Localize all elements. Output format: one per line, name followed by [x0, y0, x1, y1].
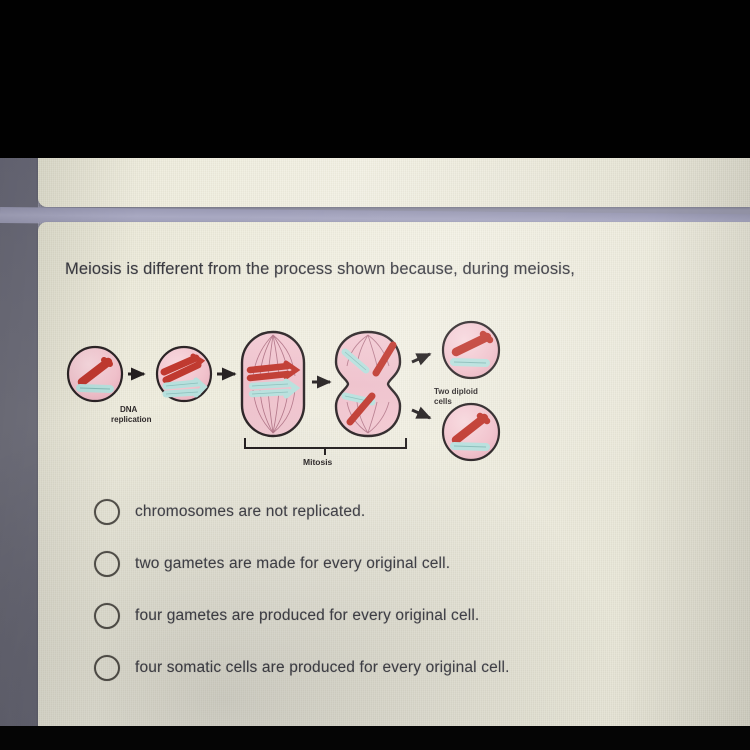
question-card-content: Meiosis is different from the process sh… — [38, 222, 750, 728]
previous-question-card — [38, 158, 750, 207]
device-screen: Meiosis is different from the process sh… — [0, 158, 750, 728]
question-stem: Meiosis is different from the process sh… — [65, 259, 745, 280]
letterbox-bottom — [0, 726, 750, 750]
arrow-4-top — [412, 354, 430, 362]
answer-option-a-label: chromosomes are not replicated. — [135, 503, 365, 521]
radio-button-a[interactable] — [94, 499, 120, 525]
label-mitosis: Mitosis — [303, 457, 333, 467]
stage-metaphase-cell — [242, 332, 304, 436]
answer-option-c[interactable]: four gametes are produced for every orig… — [60, 590, 740, 642]
radio-button-c[interactable] — [94, 603, 120, 629]
answer-option-b[interactable]: two gametes are made for every original … — [60, 538, 740, 590]
stage-parent-cell — [68, 347, 122, 401]
letterbox-top — [0, 0, 750, 160]
screenshot-root: Meiosis is different from the process sh… — [0, 0, 750, 750]
radio-button-d[interactable] — [94, 655, 120, 681]
answer-option-b-label: two gametes are made for every original … — [135, 555, 450, 573]
answer-option-c-label: four gametes are produced for every orig… — [135, 607, 479, 625]
stage-anaphase-cell — [336, 332, 400, 436]
mitosis-bracket — [245, 438, 406, 455]
stage-daughter-cell-bottom — [443, 404, 499, 460]
answer-options-list: chromosomes are not replicated. two game… — [60, 486, 740, 694]
arrow-4-bottom — [412, 410, 430, 418]
label-two-diploid-cells-line2: cells — [434, 397, 452, 406]
label-two-diploid-cells-line1: Two diploid — [434, 387, 478, 396]
answer-option-a[interactable]: chromosomes are not replicated. — [60, 486, 740, 538]
browser-side-strip — [0, 158, 38, 728]
stage-daughter-cell-top — [443, 322, 499, 378]
label-dna-replication-line2: replication — [111, 415, 152, 424]
label-dna-replication-line1: DNA — [120, 405, 138, 414]
answer-option-d[interactable]: four somatic cells are produced for ever… — [60, 642, 740, 694]
mitosis-process-diagram: DNA replication — [60, 318, 530, 470]
stage-replicated-cell — [157, 347, 211, 401]
answer-option-d-label: four somatic cells are produced for ever… — [135, 659, 510, 677]
radio-button-b[interactable] — [94, 551, 120, 577]
